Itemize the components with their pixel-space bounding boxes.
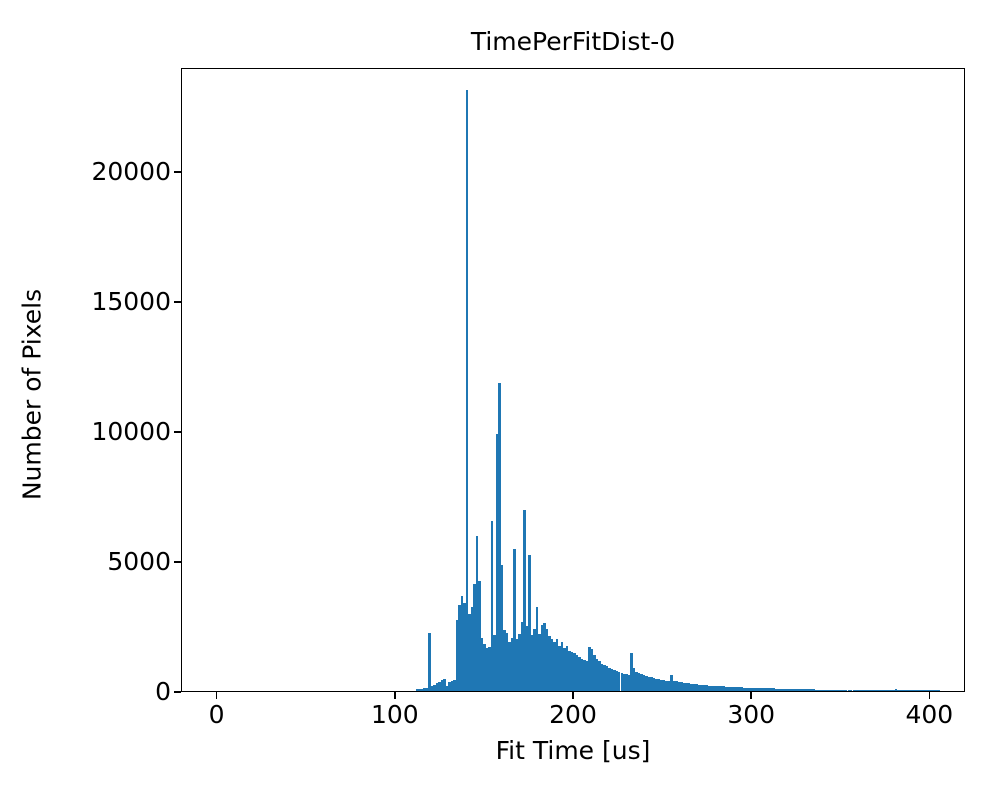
- y-axis-label: Number of Pixels: [18, 195, 47, 595]
- x-tick-label: 200: [513, 700, 633, 730]
- x-tick-label: 100: [335, 700, 455, 730]
- y-tick-label: 20000: [51, 159, 171, 185]
- histogram-bar: [428, 633, 430, 692]
- x-tick-label: 400: [869, 700, 989, 730]
- x-tick-mark: [394, 692, 395, 699]
- x-axis-label: Fit Time [us]: [181, 736, 965, 765]
- y-tick-mark: [174, 301, 181, 302]
- y-axis-tick-labels: 05000100001500020000: [44, 68, 171, 692]
- y-tick-mark: [174, 171, 181, 172]
- y-tick-label: 10000: [51, 419, 171, 445]
- figure-canvas: TimePerFitDist-0 05000100001500020000 Nu…: [0, 0, 1000, 800]
- x-axis-tick-marks: [181, 692, 965, 699]
- x-tick-mark: [216, 692, 217, 699]
- y-axis-tick-marks: [174, 68, 181, 692]
- y-tick-mark: [174, 691, 181, 692]
- x-tick-label: 0: [157, 700, 277, 730]
- plot-area: [181, 68, 965, 692]
- chart-title: TimePerFitDist-0: [181, 26, 965, 58]
- y-tick-label: 5000: [51, 549, 171, 575]
- y-tick-mark: [174, 561, 181, 562]
- histogram-bar: [937, 690, 939, 691]
- y-tick-label: 0: [51, 679, 171, 705]
- y-tick-label: 15000: [51, 289, 171, 315]
- x-tick-mark: [750, 692, 751, 699]
- y-tick-mark: [174, 431, 181, 432]
- x-axis-tick-labels: 0100200300400: [181, 700, 965, 734]
- histogram-bars: [182, 69, 964, 691]
- histogram-bar: [466, 90, 468, 691]
- x-tick-mark: [929, 692, 930, 699]
- x-tick-mark: [572, 692, 573, 699]
- x-tick-label: 300: [691, 700, 811, 730]
